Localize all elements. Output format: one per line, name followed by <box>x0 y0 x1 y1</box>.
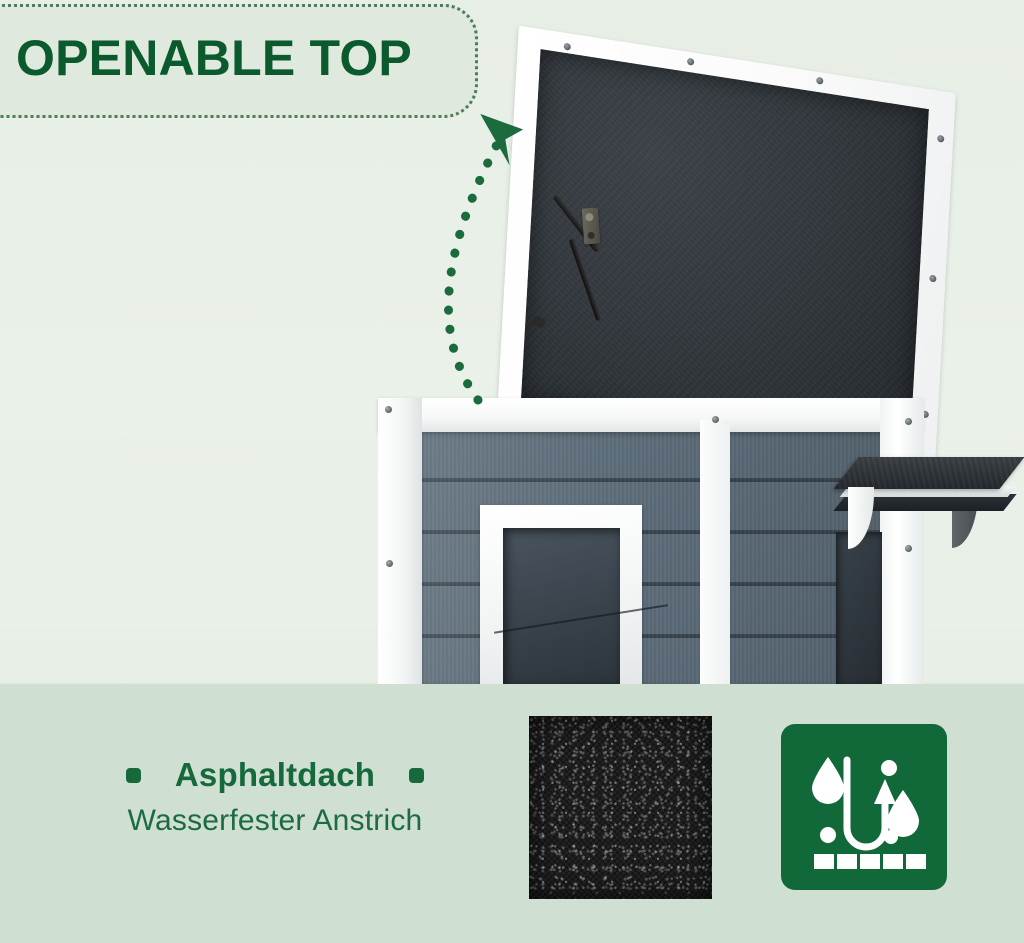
corner-post-left <box>378 398 422 684</box>
feature-title-row: Asphaltdach <box>60 756 490 794</box>
screw-icon <box>712 416 719 423</box>
side-opening <box>836 532 882 684</box>
bullet-square-right-icon <box>409 768 424 783</box>
screw-icon <box>905 418 912 425</box>
screw-icon <box>564 43 571 51</box>
screw-icon <box>937 135 944 143</box>
front-door-opening <box>503 528 620 684</box>
waterproof-icon-glyph <box>781 724 947 890</box>
center-post <box>700 420 730 684</box>
feature-text-block: Asphaltdach Wasserfester Anstrich <box>60 756 490 838</box>
curved-dotted-arrow-icon <box>430 95 550 415</box>
waterproof-icon <box>781 724 947 890</box>
side-awning-roof <box>833 457 1024 489</box>
page-title: OPENABLE TOP <box>16 22 456 94</box>
corner-post-right <box>880 398 924 684</box>
lid-hinge-bracket <box>582 207 600 244</box>
product-feature-poster: OPENABLE TOP Asphaltdach Wasserfester An… <box>0 0 1024 943</box>
feature-subtitle: Wasserfester Anstrich <box>60 804 490 838</box>
screw-icon <box>816 77 823 85</box>
screw-icon <box>929 275 936 283</box>
bullet-square-left-icon <box>126 768 141 783</box>
screw-icon <box>385 406 392 413</box>
screw-icon <box>687 58 694 66</box>
screw-icon <box>386 560 393 567</box>
screw-icon <box>905 545 912 552</box>
feature-title: Asphaltdach <box>175 756 375 794</box>
asphalt-shingle-swatch <box>529 716 712 899</box>
